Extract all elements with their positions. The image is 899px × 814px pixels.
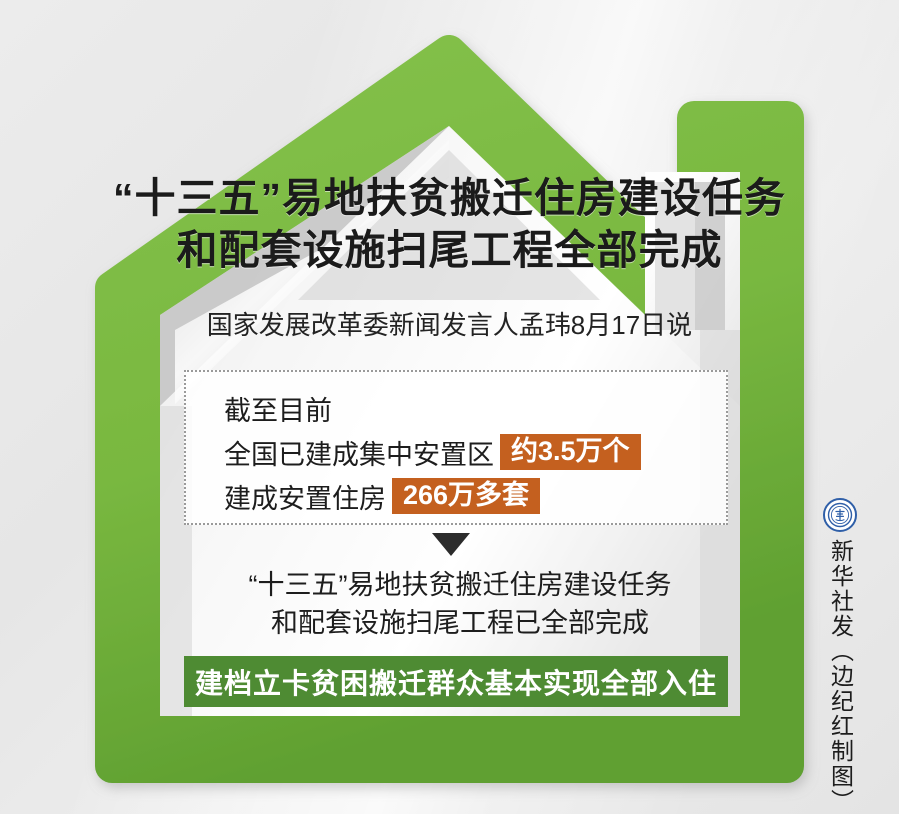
highlight-banner: 建档立卡贫困搬迁群众基本实现全部入住 xyxy=(184,656,728,707)
conclusion-text: “十三五”易地扶贫搬迁住房建设任务 和配套设施扫尾工程已全部完成 xyxy=(180,566,740,642)
credit-block: 新华社发（边纪红制图） xyxy=(817,498,863,814)
statistics-panel: 截至目前 全国已建成集中安置区 约3.5万个 建成安置住房 266万多套 xyxy=(184,370,728,525)
title-line-2: 和配套设施扫尾工程全部完成 xyxy=(0,224,899,276)
stat-row-2-label: 建成安置住房 xyxy=(224,477,386,516)
conclusion-line-1: “十三五”易地扶贫搬迁住房建设任务 xyxy=(180,566,740,604)
stat-row-2: 建成安置住房 266万多套 xyxy=(224,474,726,518)
stat-intro-line: 截至目前 xyxy=(224,386,726,430)
stat-row-1: 全国已建成集中安置区 约3.5万个 xyxy=(224,430,726,474)
stat-intro-label: 截至目前 xyxy=(224,389,332,428)
xinhua-emblem-icon xyxy=(823,498,857,532)
subtitle-attribution: 国家发展改革委新闻发言人孟玮8月17日说 xyxy=(0,308,899,342)
stat-row-1-value: 约3.5万个 xyxy=(500,434,641,470)
stat-row-1-label: 全国已建成集中安置区 xyxy=(224,433,494,472)
credit-text: 新华社发（边纪红制图） xyxy=(827,539,854,814)
title-line-1: “十三五”易地扶贫搬迁住房建设任务 xyxy=(0,172,899,224)
stat-row-2-value: 266万多套 xyxy=(392,478,540,514)
conclusion-line-2: 和配套设施扫尾工程已全部完成 xyxy=(180,604,740,642)
page-title: “十三五”易地扶贫搬迁住房建设任务 和配套设施扫尾工程全部完成 xyxy=(0,172,899,276)
poster-content: “十三五”易地扶贫搬迁住房建设任务 和配套设施扫尾工程全部完成 国家发展改革委新… xyxy=(0,0,899,814)
infographic-poster: “十三五”易地扶贫搬迁住房建设任务 和配套设施扫尾工程全部完成 国家发展改革委新… xyxy=(0,0,899,814)
triangle-down-icon xyxy=(432,533,470,556)
